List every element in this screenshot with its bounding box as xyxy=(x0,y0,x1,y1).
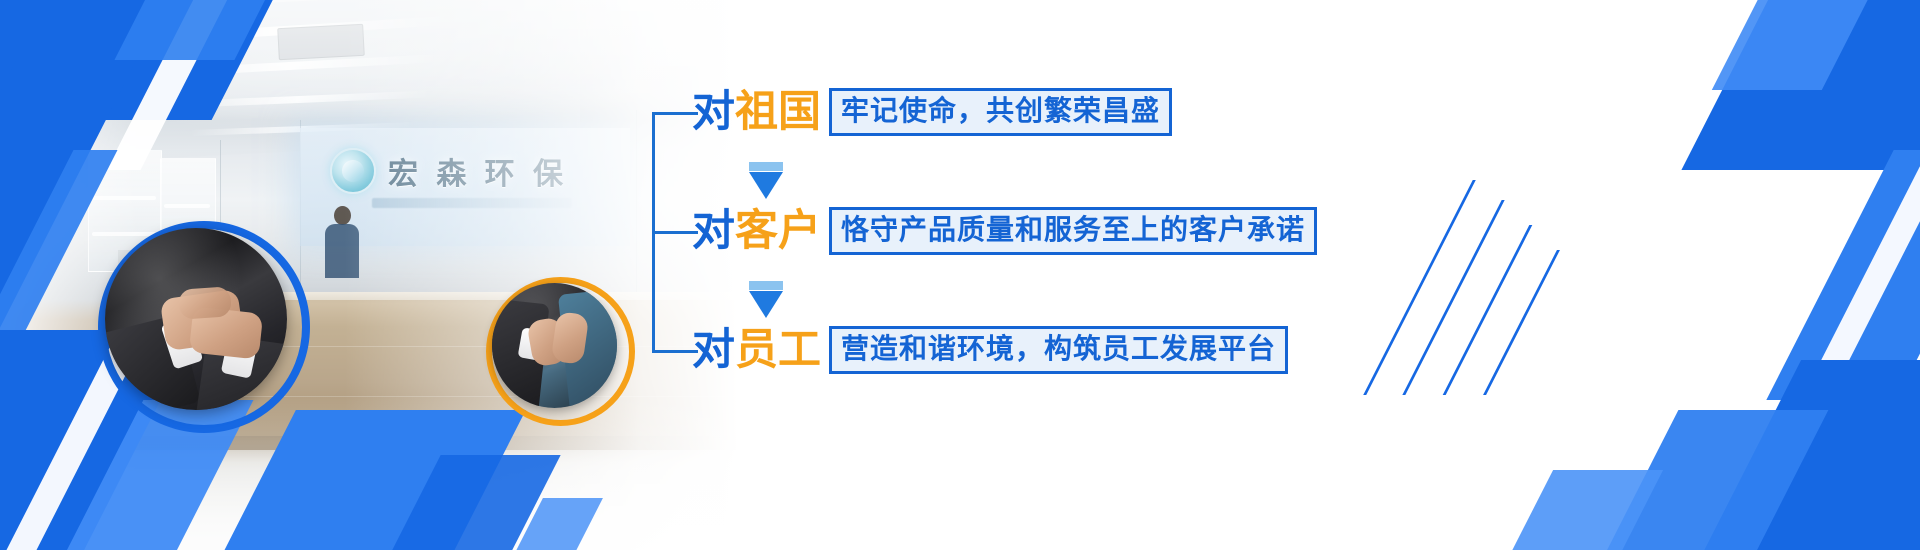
slogan-lead-prefix: 对 xyxy=(692,207,735,255)
hand-fingers xyxy=(178,286,232,320)
slogan-row-3: 对员工 营造和谐环境，构筑员工发展平台 xyxy=(692,323,1288,377)
decor-line xyxy=(1443,225,1533,395)
slogan-lead-2: 对客户 xyxy=(692,210,821,253)
applause-circle-photo xyxy=(492,283,617,408)
slogan-lead-keyword: 客户 xyxy=(735,207,821,255)
banner-root: 宏 森 环 保 xyxy=(0,0,1920,550)
arrow-triangle xyxy=(749,172,783,199)
decor-line xyxy=(1483,250,1560,395)
slogan-statement-2: 恪守产品质量和服务至上的客户承诺 xyxy=(829,207,1317,254)
arrow-top-bar xyxy=(749,281,783,290)
slogan-block: 对祖国 牢记使命，共创繁荣昌盛 对客户 恪守产品质量和服务至上的客户承诺 对员工… xyxy=(640,0,1400,550)
arrow-top-bar xyxy=(749,162,783,171)
slogan-lead-keyword: 祖国 xyxy=(735,88,821,136)
slogan-lead-prefix: 对 xyxy=(692,326,735,374)
slogan-lead-3: 对员工 xyxy=(692,329,821,372)
slogan-lead-keyword: 员工 xyxy=(735,326,821,374)
slogan-lead-1: 对祖国 xyxy=(692,91,821,134)
slogan-row-1: 对祖国 牢记使命，共创繁荣昌盛 xyxy=(692,85,1172,139)
slogan-statement-3: 营造和谐环境，构筑员工发展平台 xyxy=(829,326,1288,373)
handshake-circle-photo xyxy=(105,228,287,410)
decor-line xyxy=(1402,200,1504,395)
arrow-triangle xyxy=(749,291,783,318)
slogan-lead-prefix: 对 xyxy=(692,88,735,136)
slogan-row-2: 对客户 恪守产品质量和服务至上的客户承诺 xyxy=(692,204,1317,258)
slogan-statement-1: 牢记使命，共创繁荣昌盛 xyxy=(829,88,1172,135)
